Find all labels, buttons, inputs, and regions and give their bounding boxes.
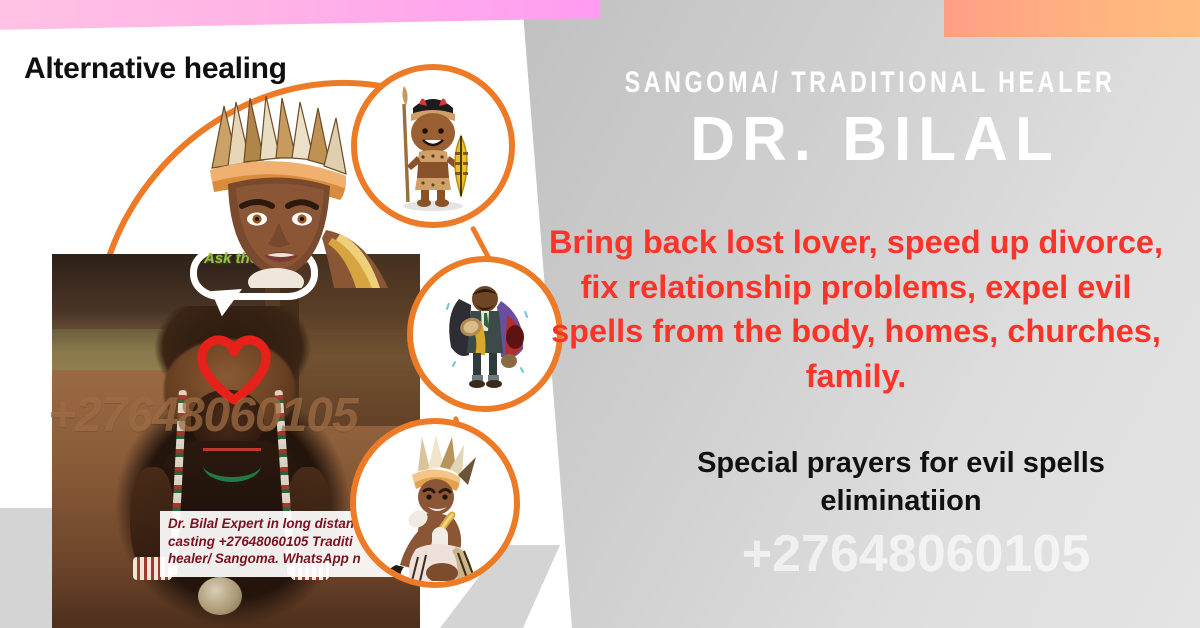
prayers-text: Special prayers for evil spells eliminat… — [616, 444, 1186, 521]
headline-name: DR. BILAL — [560, 104, 1190, 175]
phone-watermark: +27648060105 — [636, 524, 1196, 584]
circle-badge-warrior — [351, 64, 515, 228]
photo-watermark-phone: +27648060105 — [48, 388, 358, 443]
kicker-text: SANGOMA/ TRADITIONAL HEALER — [624, 66, 1115, 100]
services-text: Bring back lost lover, speed up divorce,… — [536, 220, 1176, 398]
pink-band-top-left — [0, 0, 601, 30]
zulu-warrior-cartoon-icon — [373, 78, 493, 214]
caped-healer-figure-icon — [431, 275, 539, 393]
poster-canvas: Ask the expert +27648060105 Dr. Bilal Ex… — [0, 0, 1200, 628]
kneeling-zulu-dancer-icon — [360, 431, 510, 581]
orange-band-top-right — [944, 0, 1200, 37]
circle-badge-dancer — [350, 418, 520, 588]
gray-strip-bottom-left — [0, 508, 52, 628]
page-title: Alternative healing — [24, 52, 287, 86]
